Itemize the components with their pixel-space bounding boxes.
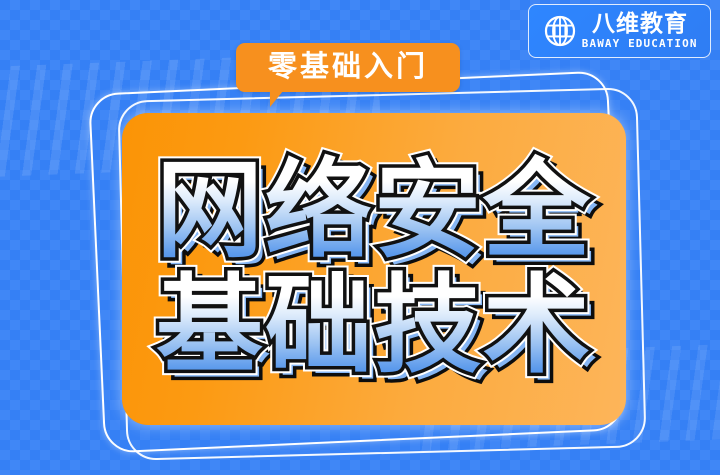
title-line-1-fill: 网络安全 (156, 149, 592, 273)
title-block: 网络安全 网络安全 网络安全 网络安全 网络安全 基础技术 基础技术 基础技术 … (122, 113, 626, 425)
badge-body: 零基础入门 (236, 43, 460, 92)
badge-tail (270, 91, 292, 107)
title-line-2: 基础技术 基础技术 基础技术 基础技术 基础技术 (156, 272, 592, 381)
course-level-badge: 零基础入门 (236, 43, 460, 92)
badge-label: 零基础入门 (258, 52, 438, 81)
brand-logo-text: 八维教育 BAWAY EDUCATION (584, 13, 695, 50)
globe-grid-icon (543, 14, 577, 48)
title-line-1: 网络安全 网络安全 网络安全 网络安全 网络安全 (156, 157, 592, 266)
brand-name-en: BAWAY EDUCATION (582, 39, 698, 50)
poster-canvas: 网络安全 网络安全 网络安全 网络安全 网络安全 基础技术 基础技术 基础技术 … (0, 0, 720, 475)
brand-logo: 八维教育 BAWAY EDUCATION (528, 4, 711, 58)
title-line-2-fill: 基础技术 (156, 264, 592, 388)
brand-name-cn: 八维教育 (592, 13, 688, 36)
